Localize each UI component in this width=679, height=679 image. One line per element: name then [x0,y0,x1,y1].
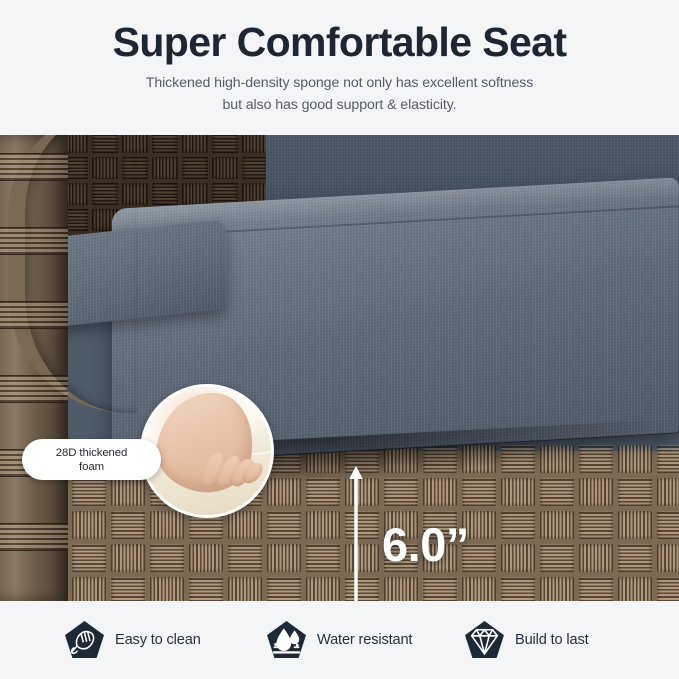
wicker-cell [150,511,184,539]
wicker-cell [306,478,340,506]
wicker-cell [72,577,106,601]
wicker-cell [657,544,679,572]
wicker-cell [72,544,106,572]
wicker-cell [212,157,238,179]
wicker-cell [228,577,262,601]
wicker-cell [384,478,418,506]
wicker-cell [242,157,268,179]
wicker-cell [267,577,301,601]
wicker-cell [501,544,535,572]
foam-press-inset-photo [140,384,274,518]
subtitle-line-2: but also has good support & elasticity. [222,95,456,116]
wicker-cell [462,478,496,506]
wicker-cell [182,135,208,153]
wicker-cell [242,135,268,153]
feature-label: Easy to clean [115,632,201,648]
wicker-cell [540,511,574,539]
dimension-value-label: 6.0” [382,518,469,572]
post-band [0,301,68,329]
wicker-cell [152,183,178,205]
wicker-cell [579,544,613,572]
wicker-cell [579,577,613,601]
feature-build-to-last: Build to last [463,601,589,679]
dimension-arrow-icon [348,466,364,601]
post-band [0,153,68,181]
wicker-cell [501,478,535,506]
page-title: Super Comfortable Seat [113,17,567,67]
diamond-icon [463,619,506,662]
wicker-cell [182,157,208,179]
wicker-cell [657,478,679,506]
wicker-cell [267,511,301,539]
wicker-cell [579,511,613,539]
feature-label: Water resistant [317,632,412,648]
feature-water-resistant: Water resistant [265,601,412,679]
wicker-cell [228,544,262,572]
wicker-cell [72,511,106,539]
wicker-cell [423,478,457,506]
subtitle-line-1: Thickened high-density sponge not only h… [146,73,533,94]
wicker-cell [501,577,535,601]
wicker-cell [182,183,208,205]
wicker-cell [306,544,340,572]
wicker-cell [657,511,679,539]
wicker-cell [189,577,223,601]
wicker-cell [111,511,145,539]
wicker-cell [306,577,340,601]
wicker-cell [152,157,178,179]
wicker-cell [267,544,301,572]
wicker-cell [540,577,574,601]
wicker-cell [618,544,652,572]
wicker-cell [540,544,574,572]
foam-callout-label: 28D thickenedfoam [56,446,128,474]
wicker-cell [540,478,574,506]
wicker-cell [212,135,238,153]
wicker-cell [150,544,184,572]
post-band [0,227,68,255]
wicker-cell [111,544,145,572]
wicker-cell [228,511,262,539]
product-infographic: Super Comfortable Seat Thickened high-de… [0,0,679,679]
foam-callout-pill: 28D thickenedfoam [22,439,161,480]
wicker-cell [423,577,457,601]
wicker-cell [189,544,223,572]
wicker-cell [657,577,679,601]
wipe-cloth-icon [63,619,106,662]
wicker-cell [501,511,535,539]
wicker-cell [306,511,340,539]
water-drop-icon [265,619,308,662]
wicker-cell [384,577,418,601]
wicker-cell [579,478,613,506]
post-band [0,375,68,403]
feature-label: Build to last [515,632,589,648]
feature-easy-to-clean: Easy to clean [63,601,201,679]
wicker-cell [618,511,652,539]
product-photo: 28D thickenedfoam 6.0” [0,135,679,601]
wicker-cell [618,577,652,601]
wicker-arm-post [0,135,68,601]
wicker-cell [111,577,145,601]
wicker-cell [150,577,184,601]
feature-bar: Easy to clean Water resistant [0,601,679,679]
post-band [0,523,68,551]
wicker-cell [462,577,496,601]
header-section: Super Comfortable Seat Thickened high-de… [0,0,679,135]
wicker-cell [152,135,178,153]
wicker-cell [618,478,652,506]
